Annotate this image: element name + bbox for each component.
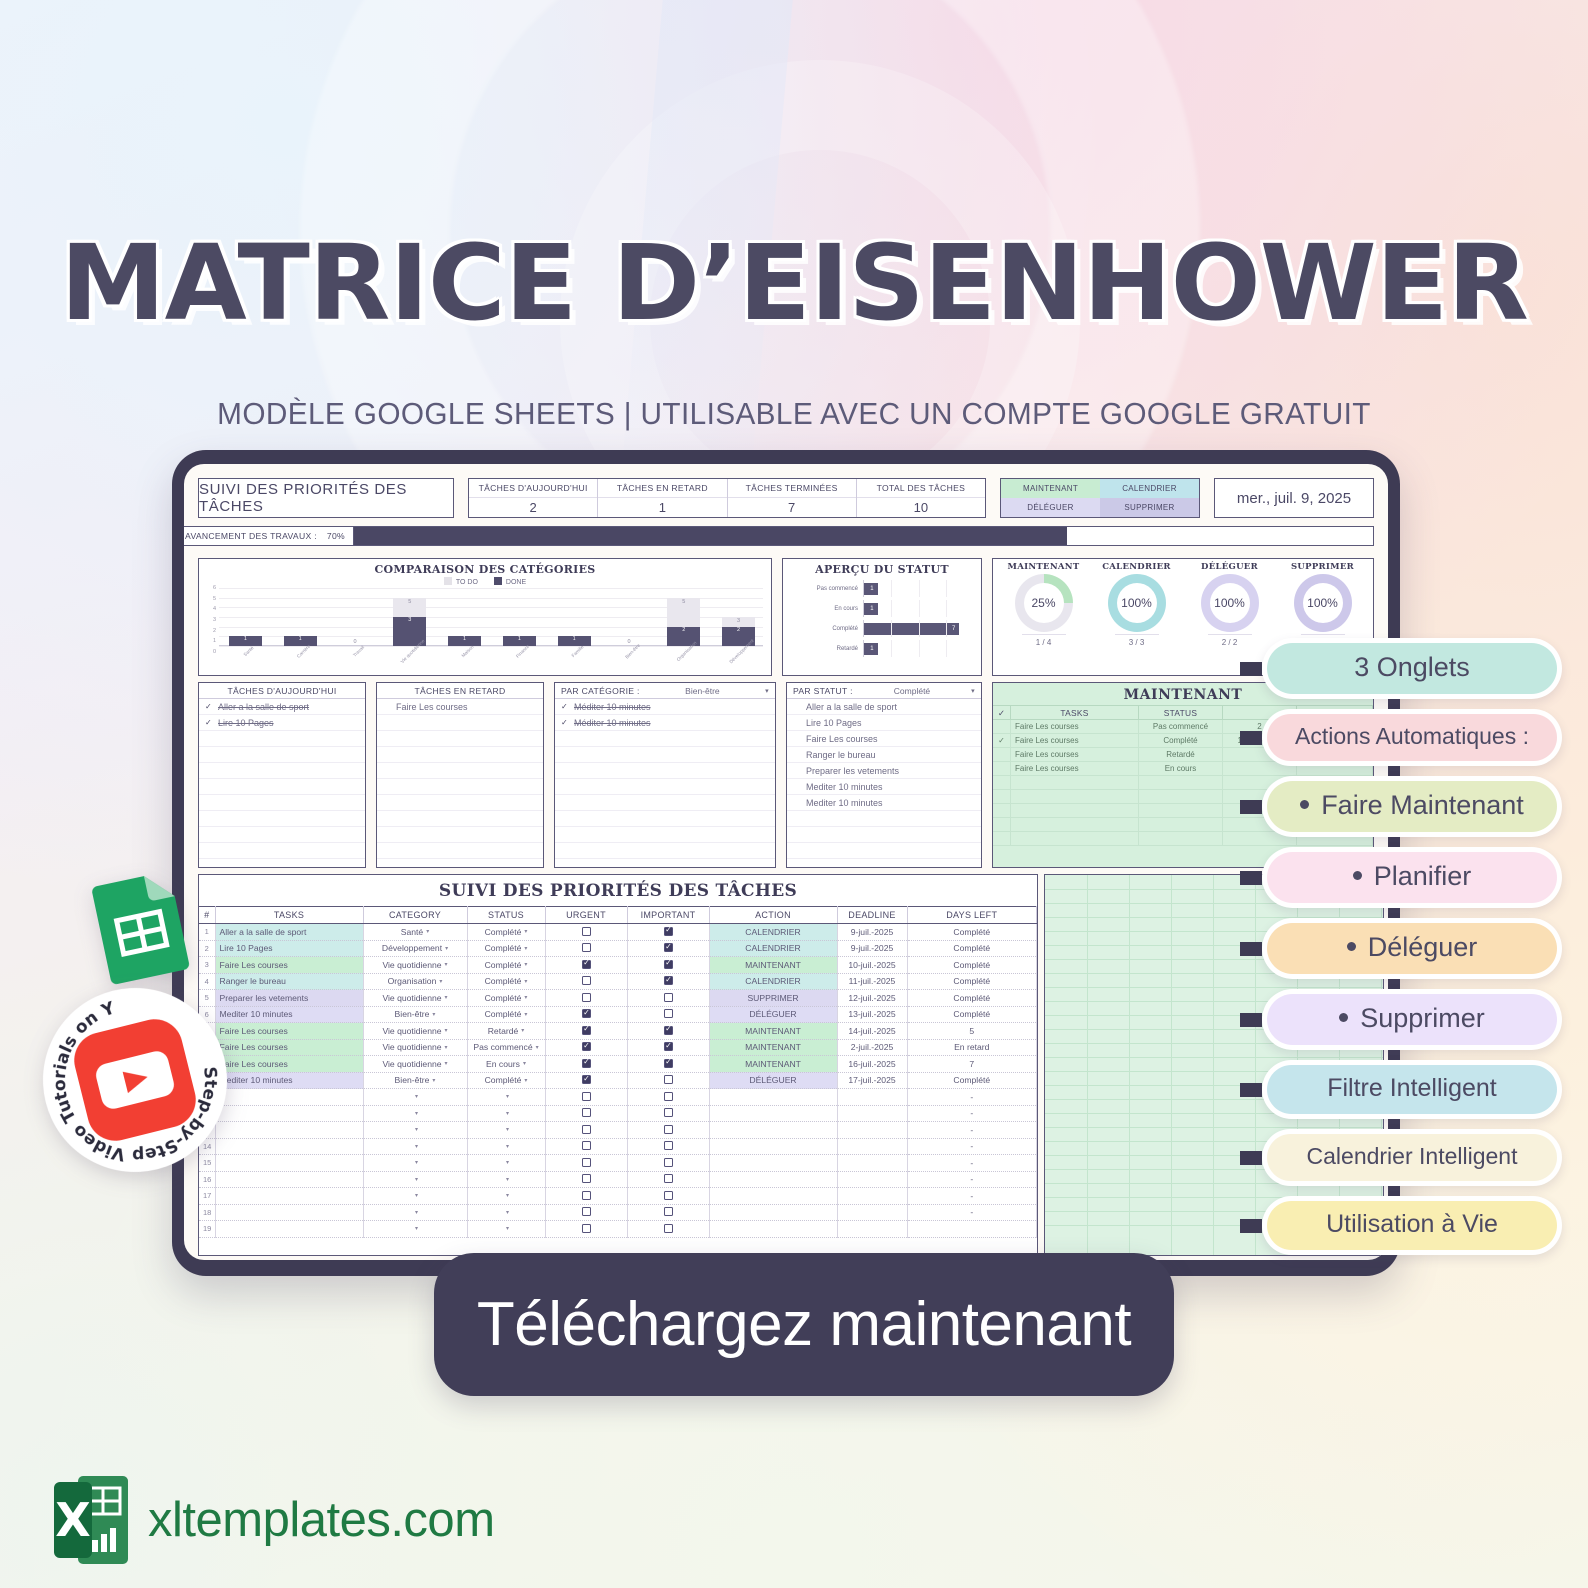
list-item[interactable] xyxy=(377,763,543,779)
feature-badge: Déléguer xyxy=(1262,918,1562,979)
list-item[interactable] xyxy=(555,779,775,795)
cell-deadline[interactable] xyxy=(837,1188,907,1205)
list-item[interactable]: Preparer les vetements xyxy=(787,763,981,779)
list-item-label: Preparer les vetements xyxy=(806,766,899,776)
urgent-checkbox[interactable] xyxy=(582,1009,591,1018)
urgent-checkbox[interactable] xyxy=(582,1141,591,1150)
donut-header-maintenant: MAINTENANT xyxy=(997,562,1090,572)
category-dropdown[interactable]: ▾ xyxy=(368,1176,463,1183)
chevron-down-icon[interactable]: ▾ xyxy=(432,1011,435,1018)
urgent-checkbox[interactable] xyxy=(582,1207,591,1216)
row-status: Complété xyxy=(1139,734,1223,747)
status-dropdown[interactable]: Complété▾ xyxy=(472,1075,541,1085)
chevron-down-icon[interactable]: ▾ xyxy=(506,1209,509,1216)
list-item[interactable] xyxy=(377,747,543,763)
row-index: 1 xyxy=(199,924,215,941)
chevron-down-icon[interactable]: ▾ xyxy=(506,1143,509,1150)
category-dropdown[interactable]: ▾ xyxy=(368,1126,463,1133)
cell-deadline[interactable] xyxy=(837,1221,907,1238)
category-dropdown[interactable]: Santé▾ xyxy=(368,927,463,937)
list-item[interactable]: ✓Lire 10 Pages xyxy=(199,715,365,731)
device-frame: SUIVI DES PRIORITÉS DES TÂCHES TÂCHES D'… xyxy=(172,450,1400,1276)
cell-days-left: - xyxy=(907,1204,1037,1221)
cell-deadline[interactable] xyxy=(837,1171,907,1188)
row-index: 2 xyxy=(199,940,215,957)
table-row[interactable]: 2Lire 10 PagesDéveloppement▾Complété▾CAL… xyxy=(199,940,1037,957)
footer-brand: X xltemplates.com xyxy=(52,1474,495,1566)
chevron-down-icon[interactable]: ▾ xyxy=(521,1027,524,1034)
important-checkbox[interactable] xyxy=(664,1092,673,1101)
chevron-down-icon[interactable]: ▾ xyxy=(432,1077,435,1084)
chevron-down-icon[interactable]: ▾ xyxy=(445,1044,448,1051)
urgent-checkbox[interactable] xyxy=(582,1075,591,1084)
list-item[interactable] xyxy=(377,779,543,795)
cell-days-left: Complété xyxy=(907,940,1037,957)
table-row[interactable]: 10Mediter 10 minutesBien-être▾Complété▾D… xyxy=(199,1072,1037,1089)
status-dropdown[interactable]: En cours▾ xyxy=(472,1059,541,1069)
kpi-done-label: TÂCHES TERMINÉES xyxy=(728,479,856,498)
urgent-checkbox[interactable] xyxy=(582,943,591,952)
donut-header-supprimer: SUPPRIMER xyxy=(1276,562,1369,572)
bar-value-todo: 5 xyxy=(682,599,685,605)
chevron-down-icon[interactable]: ▾ xyxy=(445,945,448,952)
list-item[interactable] xyxy=(199,795,365,811)
chevron-down-icon[interactable]: ▾ xyxy=(439,978,442,985)
list-item[interactable] xyxy=(377,731,543,747)
list-item[interactable] xyxy=(377,715,543,731)
chart-category-legend: TO DO DONE xyxy=(199,576,771,586)
feature-badge-label: Supprimer xyxy=(1360,1003,1485,1033)
cell-deadline[interactable]: 9-juil.-2025 xyxy=(837,940,907,957)
cell-task[interactable]: Ranger le bureau xyxy=(215,973,363,990)
urgent-checkbox[interactable] xyxy=(582,1224,591,1233)
list-item[interactable] xyxy=(199,843,365,859)
cell-deadline[interactable]: 13-juil.-2025 xyxy=(837,1006,907,1023)
important-checkbox[interactable] xyxy=(664,943,673,952)
urgent-checkbox[interactable] xyxy=(582,1191,591,1200)
category-value: Bien-être xyxy=(395,1075,430,1085)
cell-task[interactable]: Faire Les courses xyxy=(215,1039,363,1056)
important-checkbox[interactable] xyxy=(664,1224,673,1233)
cell-task[interactable]: Preparer les vetements xyxy=(215,990,363,1007)
cell-days-left: Complété xyxy=(907,973,1037,990)
chart-category-xaxis: SantéCarrièreTravailVie quotidienneMaiso… xyxy=(221,646,763,662)
chevron-down-icon[interactable]: ▾ xyxy=(506,1126,509,1133)
chevron-down-icon[interactable]: ▾ xyxy=(415,1159,418,1166)
cell-deadline[interactable]: 11-juil.-2025 xyxy=(837,973,907,990)
cell-days-left: Complété xyxy=(907,1006,1037,1023)
status-value: Complété xyxy=(485,1075,522,1085)
list-item[interactable] xyxy=(555,811,775,827)
cell-action: SUPPRIMER xyxy=(709,990,837,1007)
list-item[interactable] xyxy=(787,843,981,859)
status-bar-track: 7 xyxy=(863,620,973,637)
row-check-icon xyxy=(993,748,1011,761)
gridline xyxy=(891,600,892,617)
important-checkbox[interactable] xyxy=(664,976,673,985)
category-filter-value[interactable]: Bien-être xyxy=(685,686,720,696)
urgent-checkbox[interactable] xyxy=(582,1059,591,1068)
chevron-down-icon[interactable]: ▾ xyxy=(536,1044,539,1051)
table-row[interactable]: 4Ranger le bureauOrganisation▾Complété▾C… xyxy=(199,973,1037,990)
category-dropdown[interactable]: Vie quotidienne▾ xyxy=(368,1059,463,1069)
chevron-down-icon[interactable]: ▾ xyxy=(524,978,527,985)
list-panels-row: TÂCHES D'AUJOURD'HUI ✓Aller a la salle d… xyxy=(198,682,1374,868)
list-item[interactable] xyxy=(787,811,981,827)
category-dropdown[interactable]: Vie quotidienne▾ xyxy=(368,1026,463,1036)
table-row[interactable]: 1Aller a la salle de sportSanté▾Complété… xyxy=(199,924,1037,941)
table-row[interactable]: 16▾▾- xyxy=(199,1171,1037,1188)
cell-days-left: En retard xyxy=(907,1039,1037,1056)
category-dropdown[interactable]: ▾ xyxy=(368,1192,463,1199)
status-dropdown[interactable]: Complété▾ xyxy=(472,943,541,953)
urgent-checkbox[interactable] xyxy=(582,976,591,985)
progress-fill xyxy=(354,527,1067,545)
category-dropdown[interactable]: Bien-être▾ xyxy=(368,1009,463,1019)
table-row[interactable]: 8Faire Les coursesVie quotidienne▾Pas co… xyxy=(199,1039,1037,1056)
urgent-checkbox[interactable] xyxy=(582,1026,591,1035)
gridline xyxy=(946,600,947,617)
cell-task[interactable] xyxy=(215,1155,363,1172)
urgent-checkbox[interactable] xyxy=(582,1092,591,1101)
feature-badge-label: 3 Onglets xyxy=(1354,652,1470,682)
status-dropdown[interactable]: Complété▾ xyxy=(472,1009,541,1019)
list-item[interactable] xyxy=(787,827,981,843)
important-checkbox[interactable] xyxy=(664,1174,673,1183)
category-dropdown[interactable]: Vie quotidienne▾ xyxy=(368,1042,463,1052)
chevron-down-icon[interactable]: ▾ xyxy=(506,1110,509,1117)
chart-category-bars: 1105311105232 xyxy=(221,588,763,646)
chevron-down-icon[interactable]: ▾ xyxy=(445,961,448,968)
list-item[interactable]: Faire Les courses xyxy=(787,731,981,747)
important-checkbox[interactable] xyxy=(664,1026,673,1035)
feature-badge-inner: Calendrier Intelligent xyxy=(1267,1134,1557,1181)
category-dropdown[interactable]: ▾ xyxy=(368,1209,463,1216)
list-item[interactable] xyxy=(555,843,775,859)
cell-days-left xyxy=(907,1221,1037,1238)
category-dropdown[interactable]: ▾ xyxy=(368,1093,463,1100)
list-item[interactable] xyxy=(199,779,365,795)
cell-task[interactable] xyxy=(215,1221,363,1238)
list-item[interactable]: Lire 10 Pages xyxy=(787,715,981,731)
gridline xyxy=(1255,875,1256,1255)
cell-days-left: - xyxy=(907,1122,1037,1139)
chevron-down-icon[interactable]: ▾ xyxy=(524,961,527,968)
important-checkbox[interactable] xyxy=(664,1009,673,1018)
gridline xyxy=(891,640,892,657)
donut-cell: 25%1 / 4 xyxy=(997,574,1090,647)
table-row[interactable]: 19▾▾ xyxy=(199,1221,1037,1238)
status-dropdown[interactable]: Complété▾ xyxy=(472,976,541,986)
important-checkbox[interactable] xyxy=(664,1125,673,1134)
important-checkbox[interactable] xyxy=(664,1207,673,1216)
cell-deadline[interactable] xyxy=(837,1204,907,1221)
important-checkbox[interactable] xyxy=(664,960,673,969)
list-item[interactable] xyxy=(199,827,365,843)
list-item[interactable]: ✓Méditer 10 minutes xyxy=(555,699,775,715)
check-icon[interactable]: ✓ xyxy=(205,702,213,711)
important-checkbox[interactable] xyxy=(664,1059,673,1068)
chevron-down-icon[interactable]: ▾ xyxy=(415,1225,418,1232)
list-item[interactable] xyxy=(377,811,543,827)
status-bar-track: 1 xyxy=(863,580,973,597)
chevron-down-icon[interactable]: ▾ xyxy=(506,1225,509,1232)
feature-badge: Filtre Intelligent xyxy=(1262,1060,1562,1119)
important-checkbox[interactable] xyxy=(664,1158,673,1167)
important-checkbox[interactable] xyxy=(664,1191,673,1200)
urgent-checkbox[interactable] xyxy=(582,1108,591,1117)
chevron-down-icon[interactable]: ▾ xyxy=(524,1011,527,1018)
quadrant-deleguer: DÉLÉGUER xyxy=(1001,498,1100,517)
check-icon[interactable]: ✓ xyxy=(561,702,569,711)
chevron-down-icon[interactable]: ▾ xyxy=(524,994,527,1001)
category-dropdown[interactable]: Vie quotidienne▾ xyxy=(368,993,463,1003)
list-item[interactable]: Faire Les courses xyxy=(377,699,543,715)
cell-deadline[interactable] xyxy=(837,1122,907,1139)
row-index: 18 xyxy=(199,1204,215,1221)
status-dropdown[interactable]: ▾ xyxy=(472,1110,541,1117)
list-item[interactable] xyxy=(555,795,775,811)
chevron-down-icon[interactable]: ▾ xyxy=(415,1143,418,1150)
list-item[interactable] xyxy=(199,811,365,827)
row-task: Faire Les courses xyxy=(1011,762,1139,775)
urgent-checkbox[interactable] xyxy=(582,1174,591,1183)
list-item[interactable]: ✓Méditer 10 minutes xyxy=(555,715,775,731)
cell-deadline[interactable] xyxy=(837,1089,907,1106)
chevron-down-icon[interactable]: ▾ xyxy=(445,994,448,1001)
status-filter-value[interactable]: Complété xyxy=(894,686,930,696)
table-row[interactable]: 5Preparer les vetementsVie quotidienne▾C… xyxy=(199,990,1037,1007)
cell-deadline[interactable]: 9-juil.-2025 xyxy=(837,924,907,941)
status-value: Retardé xyxy=(488,1026,519,1036)
list-item[interactable] xyxy=(555,763,775,779)
chevron-down-icon[interactable]: ▾ xyxy=(415,1209,418,1216)
cell-task[interactable] xyxy=(215,1188,363,1205)
category-dropdown[interactable]: Développement▾ xyxy=(368,943,463,953)
gridline xyxy=(891,620,892,637)
list-item[interactable] xyxy=(377,843,543,859)
list-item[interactable]: Mediter 10 minutes xyxy=(787,779,981,795)
chevron-down-icon[interactable]: ▾ xyxy=(523,1060,526,1067)
category-dropdown[interactable]: Vie quotidienne▾ xyxy=(368,960,463,970)
important-checkbox[interactable] xyxy=(664,1141,673,1150)
quadrant-calendrier: CALENDRIER xyxy=(1100,479,1199,498)
cell-deadline[interactable]: 14-juil.-2025 xyxy=(837,1023,907,1040)
bullet-dot-icon xyxy=(1300,800,1309,809)
category-value: Vie quotidienne xyxy=(382,1059,441,1069)
chevron-down-icon[interactable]: ▾ xyxy=(415,1126,418,1133)
urgent-checkbox[interactable] xyxy=(582,927,591,936)
row-check-icon: ✓ xyxy=(993,734,1011,747)
chevron-down-icon[interactable]: ▾ xyxy=(524,928,527,935)
category-dropdown[interactable]: ▾ xyxy=(368,1159,463,1166)
category-dropdown[interactable]: ▾ xyxy=(368,1110,463,1117)
important-checkbox[interactable] xyxy=(664,1075,673,1084)
status-bar-row: Retardé1 xyxy=(791,640,973,657)
row-check-icon xyxy=(993,804,1011,817)
status-dropdown[interactable]: Pas commencé▾ xyxy=(472,1042,541,1052)
list-item[interactable]: Mediter 10 minutes xyxy=(787,795,981,811)
cell-task[interactable] xyxy=(215,1204,363,1221)
status-bar-label: Pas commencé xyxy=(791,586,863,592)
chevron-down-icon[interactable]: ▾ xyxy=(445,1027,448,1034)
check-icon[interactable]: ✓ xyxy=(205,718,213,727)
table-row[interactable]: 14▾▾- xyxy=(199,1138,1037,1155)
list-item[interactable] xyxy=(555,827,775,843)
cell-deadline[interactable]: 12-juil.-2025 xyxy=(837,990,907,1007)
kpi-today: TÂCHES D'AUJOURD'HUI 2 xyxy=(469,479,598,517)
cell-days-left: - xyxy=(907,1155,1037,1172)
status-dropdown[interactable]: ▾ xyxy=(472,1093,541,1100)
legend-done-label: DONE xyxy=(506,579,526,586)
table-row[interactable]: 13▾▾- xyxy=(199,1122,1037,1139)
list-item[interactable] xyxy=(555,747,775,763)
donut-percent: 25% xyxy=(1031,596,1055,610)
chevron-down-icon[interactable]: ▾ xyxy=(971,687,975,695)
list-item[interactable]: Ranger le bureau xyxy=(787,747,981,763)
check-icon[interactable]: ✓ xyxy=(561,718,569,727)
feature-badge: Utilisation à Vie xyxy=(1262,1196,1562,1255)
chevron-down-icon[interactable]: ▾ xyxy=(415,1176,418,1183)
cell-task[interactable]: Mediter 10 minutes xyxy=(215,1072,363,1089)
category-dropdown[interactable]: Bien-être▾ xyxy=(368,1075,463,1085)
row-index: 17 xyxy=(199,1188,215,1205)
cell-action: MAINTENANT xyxy=(709,1023,837,1040)
chevron-down-icon[interactable]: ▾ xyxy=(506,1176,509,1183)
cell-deadline[interactable]: 2-juil.-2025 xyxy=(837,1039,907,1056)
cell-task[interactable]: Faire Les courses xyxy=(215,957,363,974)
status-dropdown[interactable]: ▾ xyxy=(472,1126,541,1133)
bullet-dot-icon xyxy=(1347,942,1356,951)
bullet-dot-icon xyxy=(1353,871,1362,880)
table-row[interactable]: 6Mediter 10 minutesBien-être▾Complété▾DÉ… xyxy=(199,1006,1037,1023)
cell-task[interactable]: Aller a la salle de sport xyxy=(215,924,363,941)
table-row[interactable]: 7Faire Les coursesVie quotidienne▾Retard… xyxy=(199,1023,1037,1040)
kpi-late-value: 1 xyxy=(598,498,726,517)
panel-by-status: PAR STATUT : Complété ▾ Aller a la salle… xyxy=(786,682,982,868)
status-dropdown[interactable]: Complété▾ xyxy=(472,993,541,1003)
chevron-down-icon[interactable]: ▾ xyxy=(765,687,769,695)
list-item-label: Mediter 10 minutes xyxy=(806,798,883,808)
status-dropdown[interactable]: Complété▾ xyxy=(472,927,541,937)
chevron-down-icon[interactable]: ▾ xyxy=(506,1159,509,1166)
status-dropdown[interactable]: ▾ xyxy=(472,1209,541,1216)
cell-deadline[interactable]: 17-juil.-2025 xyxy=(837,1072,907,1089)
chart-category-comparison: COMPARAISON DES CATÉGORIES TO DO DONE 65… xyxy=(198,558,772,676)
cell-action xyxy=(709,1188,837,1205)
cell-deadline[interactable]: 16-juil.-2025 xyxy=(837,1056,907,1073)
cell-task[interactable]: Mediter 10 minutes xyxy=(215,1006,363,1023)
list-item[interactable] xyxy=(199,763,365,779)
cell-deadline[interactable]: 10-juil.-2025 xyxy=(837,957,907,974)
status-dropdown[interactable]: ▾ xyxy=(472,1192,541,1199)
feature-badge-label: Actions Automatiques : xyxy=(1295,723,1529,749)
chevron-down-icon[interactable]: ▾ xyxy=(445,1060,448,1067)
list-item[interactable] xyxy=(199,747,365,763)
cell-deadline[interactable] xyxy=(837,1105,907,1122)
bullet-dot-icon xyxy=(1339,1013,1348,1022)
category-dropdown[interactable]: Organisation▾ xyxy=(368,976,463,986)
feature-badge-inner: 3 Onglets xyxy=(1267,643,1557,694)
download-button[interactable]: Téléchargez maintenant xyxy=(434,1253,1174,1396)
cell-days-left: Complété xyxy=(907,957,1037,974)
th-action: ACTION xyxy=(709,907,837,924)
important-checkbox[interactable] xyxy=(664,1108,673,1117)
status-dropdown[interactable]: ▾ xyxy=(472,1176,541,1183)
chevron-down-icon[interactable]: ▾ xyxy=(426,928,429,935)
list-item[interactable]: ✓Aller a la salle de sport xyxy=(199,699,365,715)
important-checkbox[interactable] xyxy=(664,1042,673,1051)
gridline xyxy=(946,620,947,637)
row-check-icon xyxy=(993,776,1011,789)
category-dropdown[interactable]: ▾ xyxy=(368,1225,463,1232)
table-row[interactable]: 11▾▾- xyxy=(199,1089,1037,1106)
important-checkbox[interactable] xyxy=(664,927,673,936)
important-checkbox[interactable] xyxy=(664,993,673,1002)
table-row[interactable]: 3Faire Les coursesVie quotidienne▾Complé… xyxy=(199,957,1037,974)
cell-task[interactable]: Faire Les courses xyxy=(215,1023,363,1040)
cell-action xyxy=(709,1155,837,1172)
cell-action: DÉLÉGUER xyxy=(709,1006,837,1023)
chevron-down-icon[interactable]: ▾ xyxy=(506,1093,509,1100)
cell-deadline[interactable] xyxy=(837,1138,907,1155)
table-row[interactable]: 12▾▾- xyxy=(199,1105,1037,1122)
chevron-down-icon[interactable]: ▾ xyxy=(506,1192,509,1199)
chevron-down-icon[interactable]: ▾ xyxy=(524,1077,527,1084)
status-dropdown[interactable]: ▾ xyxy=(472,1159,541,1166)
category-value: Développement xyxy=(382,943,442,953)
list-item[interactable] xyxy=(377,795,543,811)
status-dropdown[interactable]: Retardé▾ xyxy=(472,1026,541,1036)
list-item[interactable] xyxy=(377,827,543,843)
urgent-checkbox[interactable] xyxy=(582,1158,591,1167)
table-row[interactable]: 17▾▾- xyxy=(199,1188,1037,1205)
status-dropdown[interactable]: ▾ xyxy=(472,1225,541,1232)
chevron-down-icon[interactable]: ▾ xyxy=(524,945,527,952)
urgent-checkbox[interactable] xyxy=(582,993,591,1002)
table-row[interactable]: 9Faire Les coursesVie quotidienne▾En cou… xyxy=(199,1056,1037,1073)
feature-badge-label: Planifier xyxy=(1374,861,1472,891)
urgent-checkbox[interactable] xyxy=(582,1125,591,1134)
kpi-late: TÂCHES EN RETARD 1 xyxy=(598,479,727,517)
urgent-checkbox[interactable] xyxy=(582,960,591,969)
status-bar-row: En cours1 xyxy=(791,600,973,617)
cell-days-left: Complété xyxy=(907,990,1037,1007)
chevron-down-icon[interactable]: ▾ xyxy=(415,1110,418,1117)
status-dropdown[interactable]: ▾ xyxy=(472,1143,541,1150)
cell-deadline[interactable] xyxy=(837,1155,907,1172)
cell-task[interactable] xyxy=(215,1171,363,1188)
list-item[interactable]: Aller a la salle de sport xyxy=(787,699,981,715)
chart-status-overview: APERÇU DU STATUT Pas commencé1En cours1C… xyxy=(782,558,982,676)
row-status xyxy=(1139,818,1223,831)
sheet-header-row: SUIVI DES PRIORITÉS DES TÂCHES TÂCHES D'… xyxy=(198,478,1374,518)
list-item[interactable] xyxy=(555,731,775,747)
category-dropdown[interactable]: ▾ xyxy=(368,1143,463,1150)
chevron-down-icon[interactable]: ▾ xyxy=(415,1093,418,1100)
cell-action xyxy=(709,1171,837,1188)
chart-status-plot: Pas commencé1En cours1Complété7Retardé1 xyxy=(791,580,973,660)
status-dropdown[interactable]: Complété▾ xyxy=(472,960,541,970)
list-item[interactable] xyxy=(199,731,365,747)
cell-task[interactable]: Lire 10 Pages xyxy=(215,940,363,957)
donut-header-deleguer: DÉLÉGUER xyxy=(1183,562,1276,572)
table-row[interactable]: 15▾▾- xyxy=(199,1155,1037,1172)
urgent-checkbox[interactable] xyxy=(582,1042,591,1051)
table-row[interactable]: 18▾▾- xyxy=(199,1204,1037,1221)
chevron-down-icon[interactable]: ▾ xyxy=(415,1192,418,1199)
cell-task[interactable]: Faire Les courses xyxy=(215,1056,363,1073)
